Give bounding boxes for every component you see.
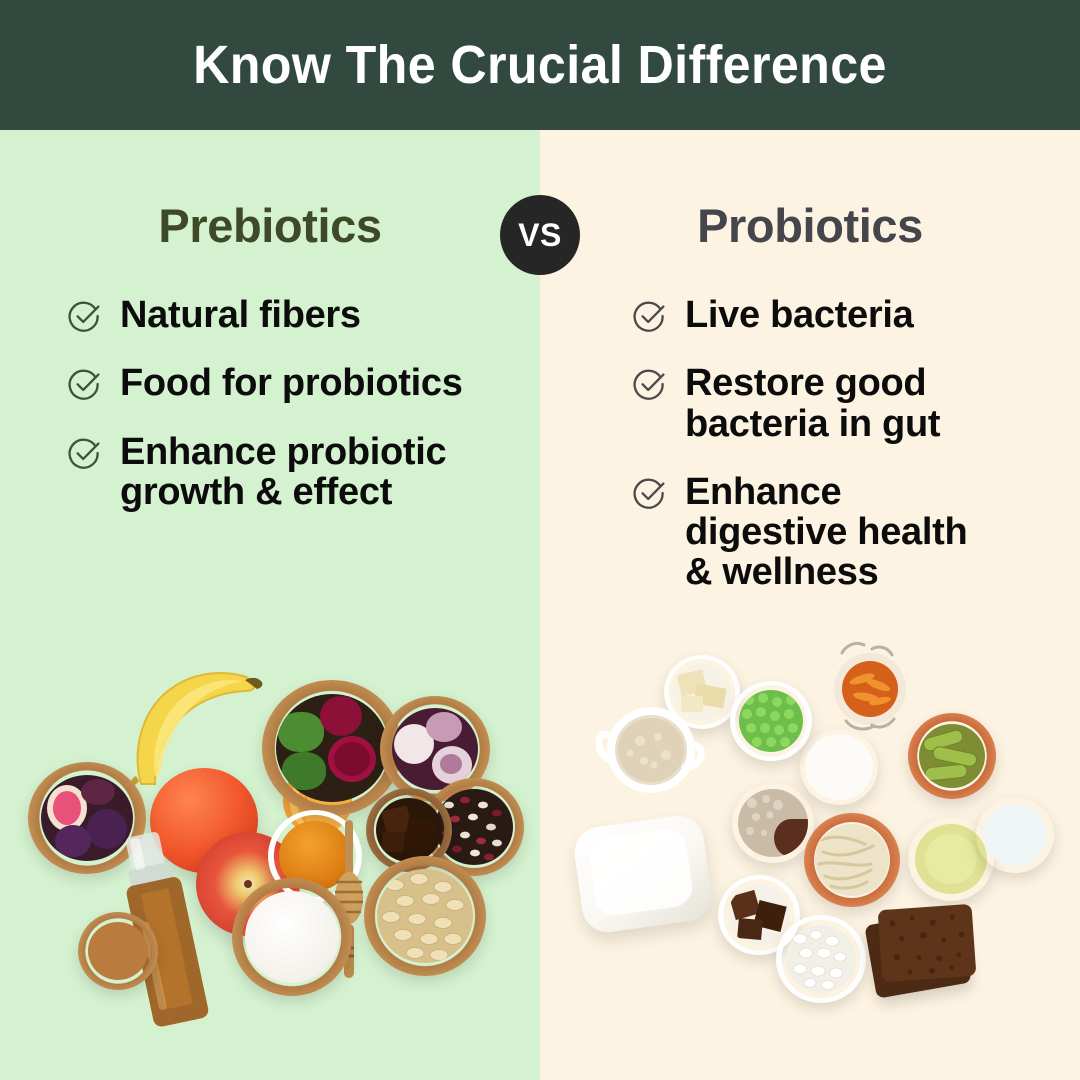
check-circle-icon	[68, 299, 102, 333]
check-circle-icon	[633, 367, 667, 401]
list-item-label: Restore good bacteria in gut	[685, 363, 940, 444]
check-circle-icon	[68, 436, 102, 470]
kvass-glass-food-item	[732, 783, 814, 863]
prebiotics-panel: Prebiotics Natural fibers	[0, 130, 540, 1080]
list-item: Enhance probiotic growth & effect	[68, 432, 540, 513]
prebiotic-foods-image	[0, 660, 540, 1080]
vs-badge: VS	[500, 195, 580, 275]
pickles-bowl-food-item	[908, 713, 996, 799]
vs-badge-label: VS	[518, 217, 562, 254]
comparison-panels: Prebiotics Natural fibers	[0, 130, 1080, 1080]
check-circle-icon	[633, 299, 667, 333]
probiotics-list: Live bacteria Restore good bacteria in g…	[540, 295, 1080, 621]
list-item: Live bacteria	[633, 295, 1080, 335]
page-title: Know The Crucial Difference	[193, 34, 887, 96]
sourdough-starter-mug-food-item	[596, 701, 706, 799]
cottage-cheese-bowl-food-item	[776, 915, 866, 1003]
check-circle-icon	[68, 367, 102, 401]
kimchi-jar-food-item	[828, 639, 912, 735]
yogurt-tub-food-item	[578, 821, 708, 927]
list-item-label: Enhance probiotic growth & effect	[120, 432, 446, 513]
prebiotics-list: Natural fibers Food for probiotics	[0, 295, 540, 540]
probiotic-foods-image	[540, 625, 1080, 1045]
list-item-label: Natural fibers	[120, 295, 361, 335]
list-item: Natural fibers	[68, 295, 540, 335]
probiotics-panel: Probiotics Live bacteria	[540, 130, 1080, 1080]
list-item: Enhance digestive health & wellness	[633, 472, 1080, 593]
list-item: Food for probiotics	[68, 363, 540, 403]
list-item-label: Live bacteria	[685, 295, 913, 335]
rolled-oats-bowl-food-item	[364, 856, 486, 976]
rye-bread-slices-food-item	[870, 901, 980, 1005]
list-item: Restore good bacteria in gut	[633, 363, 1080, 444]
ground-spice-bowl-food-item	[78, 912, 158, 990]
water-glass-food-item	[976, 797, 1054, 873]
yogurt-bowl-food-item	[232, 878, 352, 996]
header-banner: Know The Crucial Difference	[0, 0, 1080, 130]
sauerkraut-bowl-food-item	[804, 813, 900, 907]
green-peas-bowl-food-item	[730, 681, 812, 761]
prebiotics-title: Prebiotics	[0, 198, 540, 253]
check-circle-icon	[633, 476, 667, 510]
list-item-label: Enhance digestive health & wellness	[685, 472, 967, 593]
list-item-label: Food for probiotics	[120, 363, 463, 403]
milk-glass-food-item	[800, 729, 878, 805]
probiotics-title: Probiotics	[540, 198, 1080, 253]
